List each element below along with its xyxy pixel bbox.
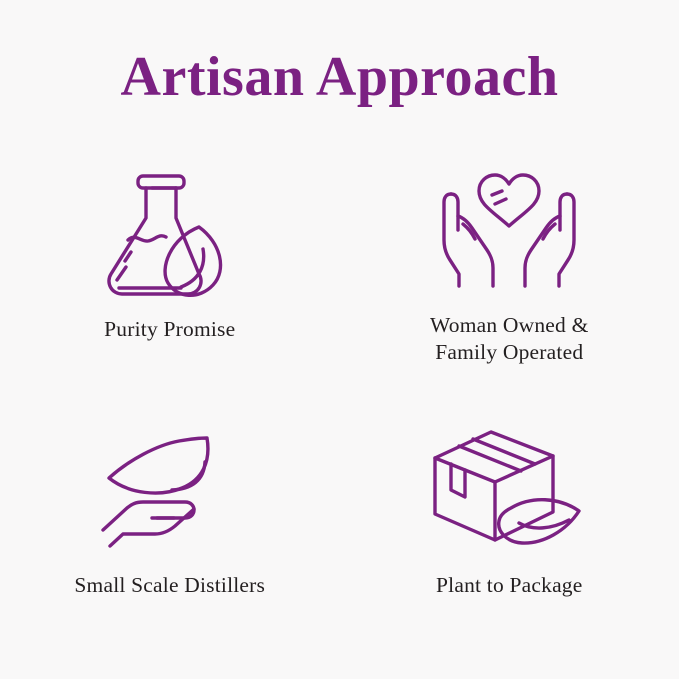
hand-leaf-icon [80,420,260,560]
box-leaf-icon [419,420,599,560]
feature-item-woman-owned: Woman Owned & Family Operated [340,150,679,400]
feature-item-small-scale-distillers: Small Scale Distillers [0,400,340,650]
hands-heart-icon [419,164,599,304]
flask-leaf-icon [80,164,260,304]
feature-label: Woman Owned & Family Operated [430,312,589,366]
feature-label: Purity Promise [104,316,235,343]
feature-item-purity-promise: Purity Promise [0,150,340,400]
page-title: Artisan Approach [0,44,679,110]
feature-item-plant-to-package: Plant to Package [340,400,679,650]
feature-grid: Purity Promise [0,150,679,650]
feature-label: Small Scale Distillers [74,572,265,599]
artisan-approach-panel: Artisan Approach [0,0,679,679]
feature-label: Plant to Package [436,572,583,599]
